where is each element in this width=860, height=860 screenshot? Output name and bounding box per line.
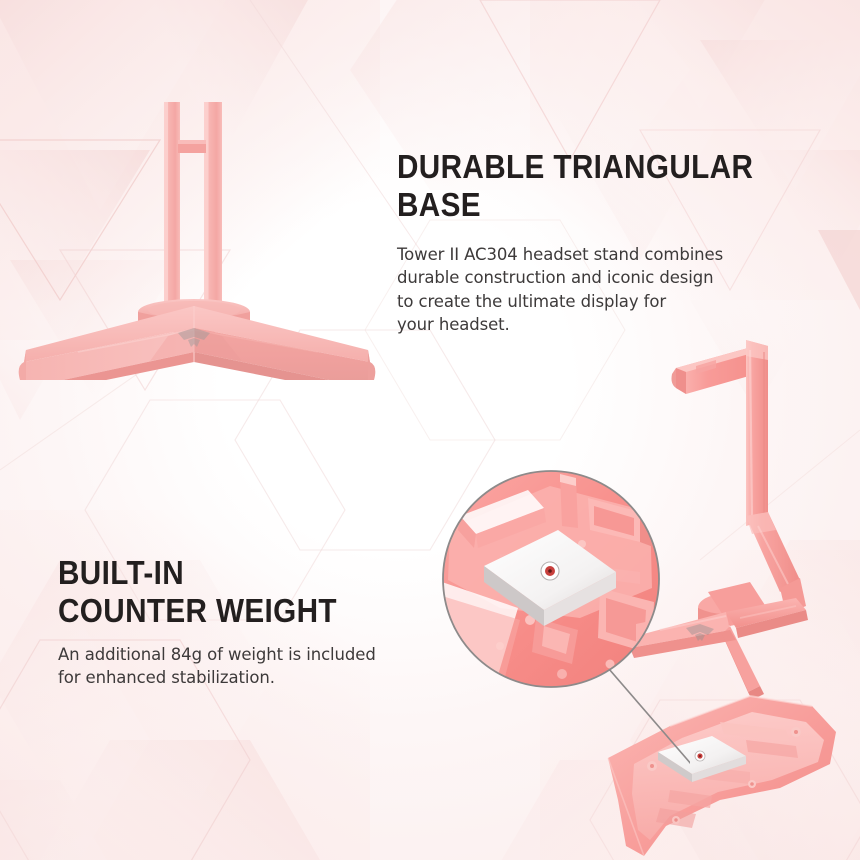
page-title-counter-weight: BUILT-IN COUNTER WEIGHT [58, 554, 436, 629]
headset-stand-triangular-base-image [18, 100, 388, 380]
stand-column [746, 340, 768, 526]
description-durable-base: Tower II AC304 headset stand combines du… [397, 243, 797, 337]
headset-hook-arm [672, 348, 757, 394]
product-feature-panel: DURABLE TRIANGULAR BASE Tower II AC304 h… [0, 0, 860, 860]
description-counter-weight: An additional 84g of weight is included … [58, 643, 458, 690]
page-title-durable-base: DURABLE TRIANGULAR BASE [397, 148, 820, 223]
stand-posts [164, 102, 222, 312]
counter-weight-magnifier-circle [440, 468, 662, 690]
magnifier-content [440, 468, 662, 690]
